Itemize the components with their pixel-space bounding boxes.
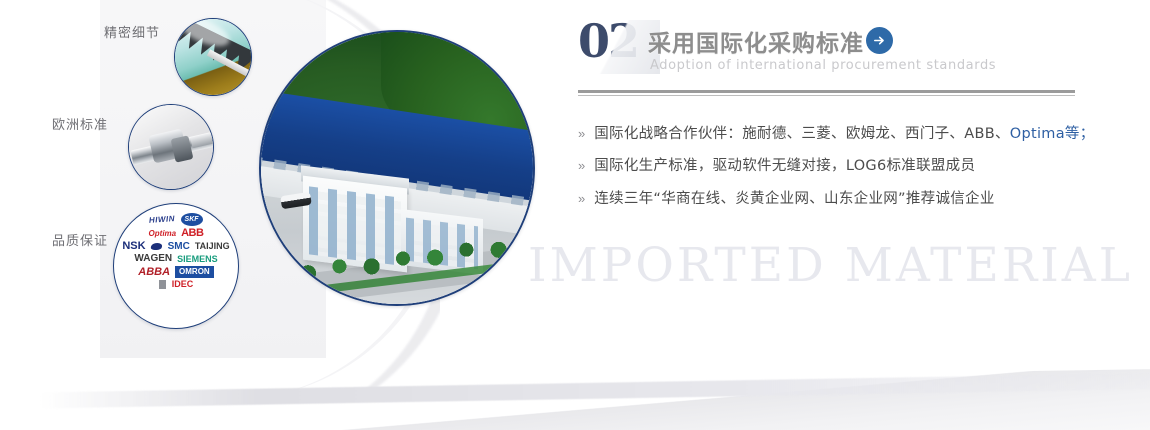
brand-row: HIWIN SKF [119, 213, 233, 226]
list-item-highlight: Optima等； [1010, 126, 1095, 142]
chevron-bullet-icon: » [578, 127, 585, 140]
list-item: » 国际化生产标准，驱动软件无缝对接，LOG6标准联盟成员 [578, 158, 1078, 175]
page-subtitle: Adoption of international procurement st… [650, 58, 996, 73]
brand-logo-omron: OMRON [175, 266, 214, 278]
page-title: 采用国际化采购标准 [648, 24, 864, 58]
text-content-column: 02 采用国际化采购标准 Adoption of international p… [578, 22, 1083, 84]
brand-row: ABBA OMRON [119, 266, 233, 278]
divider-thick-line [578, 90, 1075, 93]
list-item-text-main: 国际化战略合作伙伴：施耐德、三菱、欧姆龙、西门子、ABB、 [594, 126, 1010, 142]
brand-logo-abba: ABBA [138, 267, 170, 278]
section-number: 02 [578, 18, 638, 64]
brand-logo-taijing: TAIJING [195, 242, 230, 251]
list-item-text-main: 连续三年“华商在线、炎黄企业网、山东企业网”推荐诚信企业 [594, 191, 994, 207]
brand-logo-wagen: WAGEN [134, 254, 172, 264]
list-item: » 连续三年“华商在线、炎黄企业网、山东企业网”推荐诚信企业 [578, 191, 1078, 208]
brand-logo-optima: Optima [149, 230, 177, 238]
brand-logo-idec: IDEC [172, 280, 194, 289]
divider-thin-line [578, 95, 1075, 96]
header-divider [578, 90, 1075, 96]
brand-row: Optima ABB [119, 228, 233, 239]
brand-row: NSK SMC TAIJING [119, 241, 233, 252]
promo-section: 精密细节 欧洲标准 品质保证 HIWIN SKF Optima ABB NSK [0, 0, 1150, 430]
factory-building-photo [259, 30, 535, 306]
brand-row: IDEC [119, 280, 233, 289]
brand-logo-skf: SKF [181, 213, 203, 226]
feature-list: » 国际化战略合作伙伴：施耐德、三菱、欧姆龙、西门子、ABB、Optima等； … [578, 126, 1078, 223]
precision-detail-photo [174, 18, 252, 96]
brand-logo-smc: SMC [168, 242, 190, 252]
list-item-text-main: 国际化生产标准，驱动软件无缝对接，LOG6标准联盟成员 [594, 158, 975, 174]
idec-mark-icon [159, 280, 166, 289]
list-item-text: 国际化战略合作伙伴：施耐德、三菱、欧姆龙、西门子、ABB、Optima等； [594, 126, 1094, 143]
list-item-text: 连续三年“华商在线、炎黄企业网、山东企业网”推荐诚信企业 [594, 191, 994, 208]
section-header: 02 采用国际化采购标准 Adoption of international p… [578, 22, 1083, 84]
chevron-bullet-icon: » [578, 159, 585, 172]
arrow-right-icon[interactable] [866, 27, 893, 54]
brand-logo-abb: ABB [181, 228, 203, 239]
european-standard-photo [128, 104, 214, 190]
brand-row: WAGEN SIEMENS [119, 254, 233, 264]
footer-decorative-band [0, 352, 1150, 430]
brand-logo-nsk: NSK [122, 241, 145, 252]
chevron-bullet-icon: » [578, 192, 585, 205]
brand-logo-siemens: SIEMENS [177, 255, 218, 264]
list-item: » 国际化战略合作伙伴：施耐德、三菱、欧姆龙、西门子、ABB、Optima等； [578, 126, 1078, 143]
footer-sweep-primary [0, 368, 1150, 430]
watermark-text: IMPORTED MATERIAL [528, 238, 1133, 293]
brand-logo-wall: HIWIN SKF Optima ABB NSK SMC TAIJING WAG… [114, 204, 238, 328]
quality-brands-photo: HIWIN SKF Optima ABB NSK SMC TAIJING WAG… [113, 203, 239, 329]
footer-sweep-secondary [40, 372, 1150, 409]
list-item-text: 国际化生产标准，驱动软件无缝对接，LOG6标准联盟成员 [594, 158, 975, 175]
label-quality-assurance: 品质保证 [52, 230, 108, 249]
label-precision-detail: 精密细节 [104, 22, 160, 41]
brand-logo-hiwin: HIWIN [149, 215, 176, 225]
label-european-standard: 欧洲标准 [52, 114, 108, 133]
smc-mark-icon [150, 243, 162, 250]
